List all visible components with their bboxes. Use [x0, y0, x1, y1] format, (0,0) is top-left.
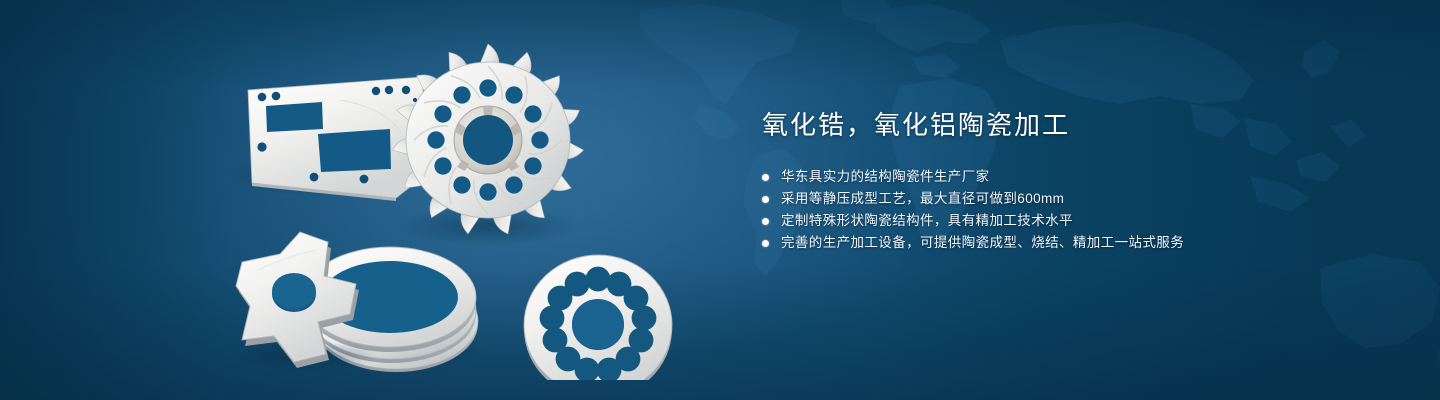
list-item-label: 定制特殊形状陶瓷结构件，具有精加工技术水平 [781, 210, 1073, 232]
ceramic-plate-with-cutouts [220, 77, 430, 201]
feature-list: 华东具实力的结构陶瓷件生产厂家 采用等静压成型工艺，最大直径可做到600mm 定… [762, 166, 1362, 254]
list-item: 华东具实力的结构陶瓷件生产厂家 [762, 166, 1362, 188]
ceramic-perforated-annular-disc [524, 255, 672, 380]
product-collage-svg [190, 30, 730, 380]
list-item: 定制特殊形状陶瓷结构件，具有精加工技术水平 [762, 210, 1362, 232]
ceramic-vaned-impeller-disc [391, 44, 584, 246]
product-collage [190, 30, 730, 380]
list-item-label: 完善的生产加工设备，可提供陶瓷成型、烧结、精加工一站式服务 [781, 232, 1184, 254]
hero-banner: 氧化锆，氧化铝陶瓷加工 华东具实力的结构陶瓷件生产厂家 采用等静压成型工艺，最大… [0, 0, 1440, 400]
bullet-dot-icon [762, 174, 769, 181]
banner-copy: 氧化锆，氧化铝陶瓷加工 华东具实力的结构陶瓷件生产厂家 采用等静压成型工艺，最大… [762, 108, 1362, 254]
list-item: 采用等静压成型工艺，最大直径可做到600mm [762, 188, 1362, 210]
list-item: 完善的生产加工设备，可提供陶瓷成型、烧结、精加工一站式服务 [762, 232, 1362, 254]
bullet-dot-icon [762, 218, 769, 225]
list-item-label: 华东具实力的结构陶瓷件生产厂家 [781, 166, 990, 188]
bullet-dot-icon [762, 240, 769, 247]
bullet-dot-icon [762, 196, 769, 203]
list-item-label: 采用等静压成型工艺，最大直径可做到600mm [781, 188, 1064, 210]
page-title: 氧化锆，氧化铝陶瓷加工 [762, 108, 1362, 142]
